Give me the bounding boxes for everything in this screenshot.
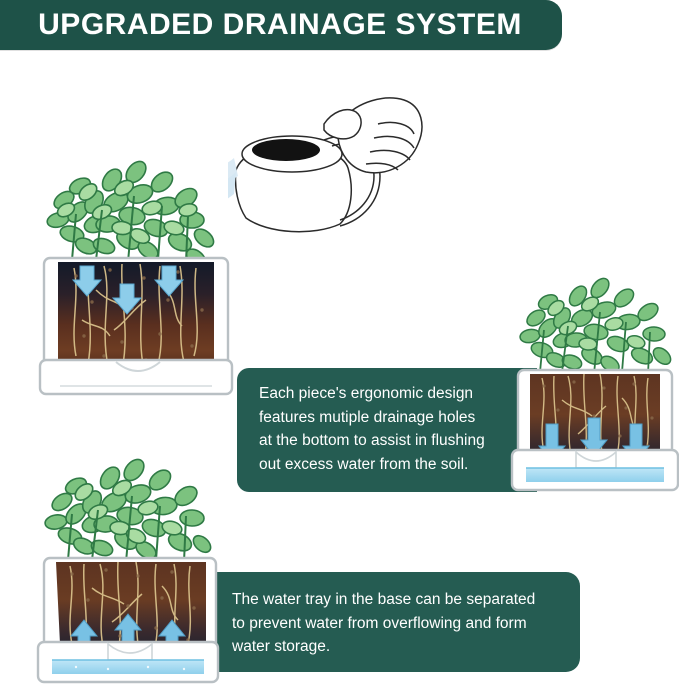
drainage-holes-callout: Each piece's ergonomic design features m… [237,368,537,492]
callout-1-line-4: out excess water from the soil. [259,453,521,477]
watering-can-icon [235,136,351,232]
callout-1-line-2: features mutiple drainage holes [259,406,521,430]
planter-top-left [36,150,236,400]
watering-can-svg [228,84,428,274]
planter-right-svg [510,272,679,497]
plant-foliage-icon [46,158,217,271]
callout-2-line-1: The water tray in the base can be separa… [232,588,562,612]
callout-2-line-3: water storage. [232,635,562,659]
callout-1-line-3: at the bottom to assist in flushing [259,429,521,453]
planter-bottom-left [36,452,226,687]
page-title: UPGRADED DRAINAGE SYSTEM [22,8,522,42]
water-tray-callout: The water tray in the base can be separa… [210,572,580,672]
stored-water [526,468,664,482]
plant-foliage-icon [44,456,214,562]
water-tray-base [512,450,678,490]
planter-bottom-left-svg [36,452,226,687]
header-banner: UPGRADED DRAINAGE SYSTEM [0,0,562,50]
water-tray-base [40,360,232,394]
illustration-canvas: UPGRADED DRAINAGE SYSTEM Each piece's er… [0,0,679,691]
planter-top-left-svg [36,150,236,400]
watering-can-with-hand [228,84,428,279]
plant-foliage-icon [519,275,674,375]
planter-right [510,272,679,497]
callout-1-line-1: Each piece's ergonomic design [259,382,521,406]
callout-2-line-2: to prevent water from overflowing and fo… [232,612,562,636]
water-tray-base [38,642,218,682]
